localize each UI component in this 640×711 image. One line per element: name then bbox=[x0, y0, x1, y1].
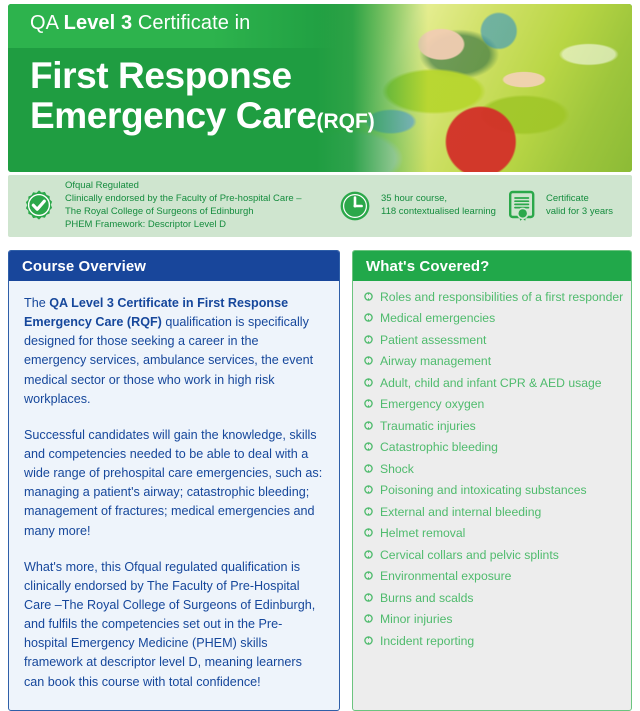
circle-bullet-icon bbox=[364, 335, 373, 344]
overview-p0-lead: The bbox=[24, 296, 49, 310]
hero-title-line1: First Response bbox=[30, 56, 375, 96]
course-overview-header: Course Overview bbox=[9, 251, 339, 281]
circle-bullet-icon bbox=[364, 614, 373, 623]
circle-bullet-icon bbox=[364, 550, 373, 559]
badge-strip: Ofqual Regulated Clinically endorsed by … bbox=[8, 175, 632, 237]
list-item[interactable]: Airway management bbox=[364, 354, 621, 368]
circle-bullet-icon bbox=[364, 442, 373, 451]
circle-bullet-icon bbox=[364, 464, 373, 473]
list-item-label: Incident reporting bbox=[380, 634, 474, 648]
list-item-label: Catastrophic bleeding bbox=[380, 440, 498, 454]
list-item-label: Patient assessment bbox=[380, 333, 486, 347]
badge-certificate-line-1: valid for 3 years bbox=[546, 206, 613, 219]
whats-covered-header: What's Covered? bbox=[353, 251, 631, 281]
whats-covered-panel: What's Covered? Roles and responsibiliti… bbox=[352, 250, 632, 711]
badge-certificate: Certificate valid for 3 years bbox=[507, 189, 613, 223]
certificate-icon bbox=[507, 189, 537, 223]
circle-bullet-icon bbox=[364, 528, 373, 537]
page-title: First Response Emergency Care(RQF) bbox=[30, 56, 375, 136]
list-item[interactable]: Patient assessment bbox=[364, 333, 621, 347]
badge-ofqual-line-2: The Royal College of Surgeons of Edinbur… bbox=[65, 206, 302, 219]
circle-bullet-icon bbox=[364, 593, 373, 602]
badge-duration-text: 35 hour course, 118 contextualised learn… bbox=[381, 193, 496, 219]
list-item-label: External and internal bleeding bbox=[380, 505, 541, 519]
list-item[interactable]: Helmet removal bbox=[364, 526, 621, 540]
hero-banner: QA Level 3 Certificate in First Response… bbox=[8, 4, 632, 172]
list-item-label: Emergency oxygen bbox=[380, 397, 484, 411]
badge-duration-line-0: 35 hour course, bbox=[381, 193, 496, 206]
list-item-label: Helmet removal bbox=[380, 526, 465, 540]
content-panels: Course Overview The QA Level 3 Certifica… bbox=[8, 250, 632, 711]
list-item[interactable]: Catastrophic bleeding bbox=[364, 440, 621, 454]
badge-ofqual-text: Ofqual Regulated Clinically endorsed by … bbox=[65, 180, 302, 232]
badge-ofqual: Ofqual Regulated Clinically endorsed by … bbox=[22, 180, 322, 232]
hero-eyebrow-suffix: Certificate in bbox=[132, 12, 250, 34]
hero-title-rqf: (RQF) bbox=[316, 110, 374, 133]
list-item-label: Poisoning and intoxicating substances bbox=[380, 483, 587, 497]
list-item[interactable]: Environmental exposure bbox=[364, 569, 621, 583]
list-item[interactable]: Incident reporting bbox=[364, 634, 621, 648]
list-item-label: Minor injuries bbox=[380, 612, 452, 626]
overview-paragraph-1: Successful candidates will gain the know… bbox=[24, 426, 323, 541]
course-page: QA Level 3 Certificate in First Response… bbox=[0, 4, 640, 685]
list-item-label: Medical emergencies bbox=[380, 311, 495, 325]
overview-paragraph-2: What's more, this Ofqual regulated quali… bbox=[24, 558, 323, 692]
check-seal-icon bbox=[22, 189, 56, 223]
circle-bullet-icon bbox=[364, 421, 373, 430]
hero-eyebrow-prefix: QA bbox=[30, 12, 64, 34]
list-item-label: Adult, child and infant CPR & AED usage bbox=[380, 376, 602, 390]
list-item-label: Cervical collars and pelvic splints bbox=[380, 548, 559, 562]
list-item[interactable]: Roles and responsibilities of a first re… bbox=[364, 290, 621, 304]
list-item[interactable]: Burns and scalds bbox=[364, 591, 621, 605]
badge-ofqual-line-1: Clinically endorsed by the Faculty of Pr… bbox=[65, 193, 302, 206]
hero-eyebrow-bold: Level 3 bbox=[64, 12, 133, 34]
list-item-label: Burns and scalds bbox=[380, 591, 474, 605]
clock-icon bbox=[338, 189, 372, 223]
list-item[interactable]: Poisoning and intoxicating substances bbox=[364, 483, 621, 497]
list-item[interactable]: Medical emergencies bbox=[364, 311, 621, 325]
list-item[interactable]: Adult, child and infant CPR & AED usage bbox=[364, 376, 621, 390]
course-overview-panel: Course Overview The QA Level 3 Certifica… bbox=[8, 250, 340, 711]
list-item[interactable]: External and internal bleeding bbox=[364, 505, 621, 519]
badge-ofqual-line-0: Ofqual Regulated bbox=[65, 180, 302, 193]
circle-bullet-icon bbox=[364, 378, 373, 387]
list-item-label: Shock bbox=[380, 462, 414, 476]
list-item-label: Traumatic injuries bbox=[380, 419, 476, 433]
hero-title-line2-wrap: Emergency Care(RQF) bbox=[30, 96, 375, 136]
badge-certificate-line-0: Certificate bbox=[546, 193, 613, 206]
circle-bullet-icon bbox=[364, 485, 373, 494]
circle-bullet-icon bbox=[364, 356, 373, 365]
list-item-label: Roles and responsibilities of a first re… bbox=[380, 290, 623, 304]
badge-duration: 35 hour course, 118 contextualised learn… bbox=[338, 189, 493, 223]
list-item[interactable]: Emergency oxygen bbox=[364, 397, 621, 411]
list-item[interactable]: Shock bbox=[364, 462, 621, 476]
circle-bullet-icon bbox=[364, 571, 373, 580]
list-item-label: Airway management bbox=[380, 354, 491, 368]
circle-bullet-icon bbox=[364, 313, 373, 322]
hero-eyebrow: QA Level 3 Certificate in bbox=[30, 12, 250, 35]
badge-certificate-text: Certificate valid for 3 years bbox=[546, 193, 613, 219]
course-overview-body: The QA Level 3 Certificate in First Resp… bbox=[9, 281, 339, 710]
whats-covered-list: Roles and responsibilities of a first re… bbox=[353, 281, 631, 660]
badge-ofqual-line-3: PHEM Framework: Descriptor Level D bbox=[65, 219, 302, 232]
badge-duration-line-1: 118 contextualised learning bbox=[381, 206, 496, 219]
circle-bullet-icon bbox=[364, 399, 373, 408]
list-item-label: Environmental exposure bbox=[380, 569, 511, 583]
list-item[interactable]: Minor injuries bbox=[364, 612, 621, 626]
circle-bullet-icon bbox=[364, 636, 373, 645]
list-item[interactable]: Traumatic injuries bbox=[364, 419, 621, 433]
list-item[interactable]: Cervical collars and pelvic splints bbox=[364, 548, 621, 562]
hero-title-line2: Emergency Care bbox=[30, 95, 316, 136]
circle-bullet-icon bbox=[364, 507, 373, 516]
circle-bullet-icon bbox=[364, 292, 373, 301]
overview-paragraph-0: The QA Level 3 Certificate in First Resp… bbox=[24, 294, 323, 409]
